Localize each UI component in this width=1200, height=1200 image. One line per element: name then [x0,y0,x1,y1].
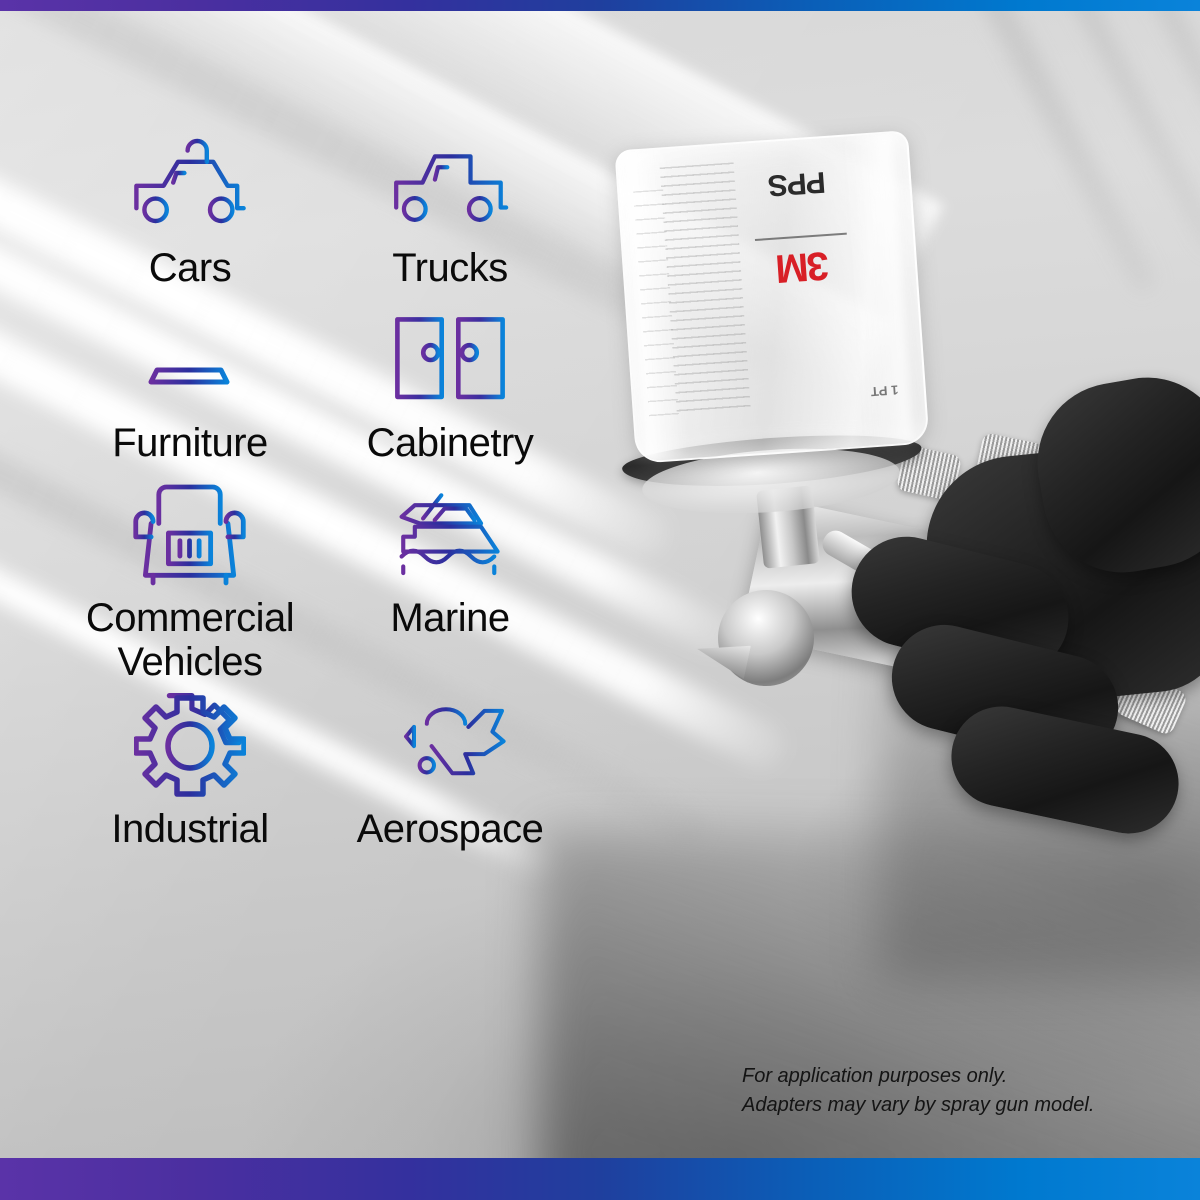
category-label: Marine [390,596,509,641]
yacht-icon [390,480,510,590]
category-label: Industrial [111,807,268,852]
semi-truck-front-icon [130,480,250,590]
category-label: Cars [149,246,231,291]
category-row: Furniture [60,305,580,466]
3m-logo: 3M [742,240,865,293]
cup-size-label: 1 PT [870,382,898,399]
category-commercial-vehicles: Commercial Vehicles [60,480,320,686]
car-icon [130,130,250,240]
application-category-grid: Cars [60,130,580,852]
category-label: Commercial Vehicles [86,596,294,686]
spray-gun-photo: PPS 3M 1 PT [600,120,1200,840]
disclaimer-text: For application purposes only. Adapters … [742,1062,1094,1120]
gear-icon [130,691,250,801]
top-gradient-bar [0,0,1200,11]
category-cars: Cars [60,130,320,291]
category-furniture: Furniture [60,305,320,466]
category-marine: Marine [320,480,580,686]
pps-divider-rule [755,233,847,241]
category-row: Cars [60,130,580,291]
category-label: Trucks [392,246,508,291]
marketing-graphic: PPS 3M 1 PT [0,0,1200,1200]
category-trucks: Trucks [320,130,580,291]
category-label: Aerospace [357,807,544,852]
category-industrial: Industrial [60,691,320,852]
category-row: Industrial [60,691,580,852]
chair-icon [130,305,250,415]
bottom-gradient-bar [0,1158,1200,1200]
category-cabinetry: Cabinetry [320,305,580,466]
category-label: Cabinetry [367,421,534,466]
category-aerospace: Aerospace [320,691,580,852]
category-label: Furniture [112,421,268,466]
airplane-icon [390,691,510,801]
category-row: Commercial Vehicles [60,480,580,686]
cabinet-doors-icon [390,305,510,415]
pps-cup: PPS 3M 1 PT [614,130,929,464]
pps-wordmark: PPS [736,162,858,204]
pickup-truck-icon [390,130,510,240]
